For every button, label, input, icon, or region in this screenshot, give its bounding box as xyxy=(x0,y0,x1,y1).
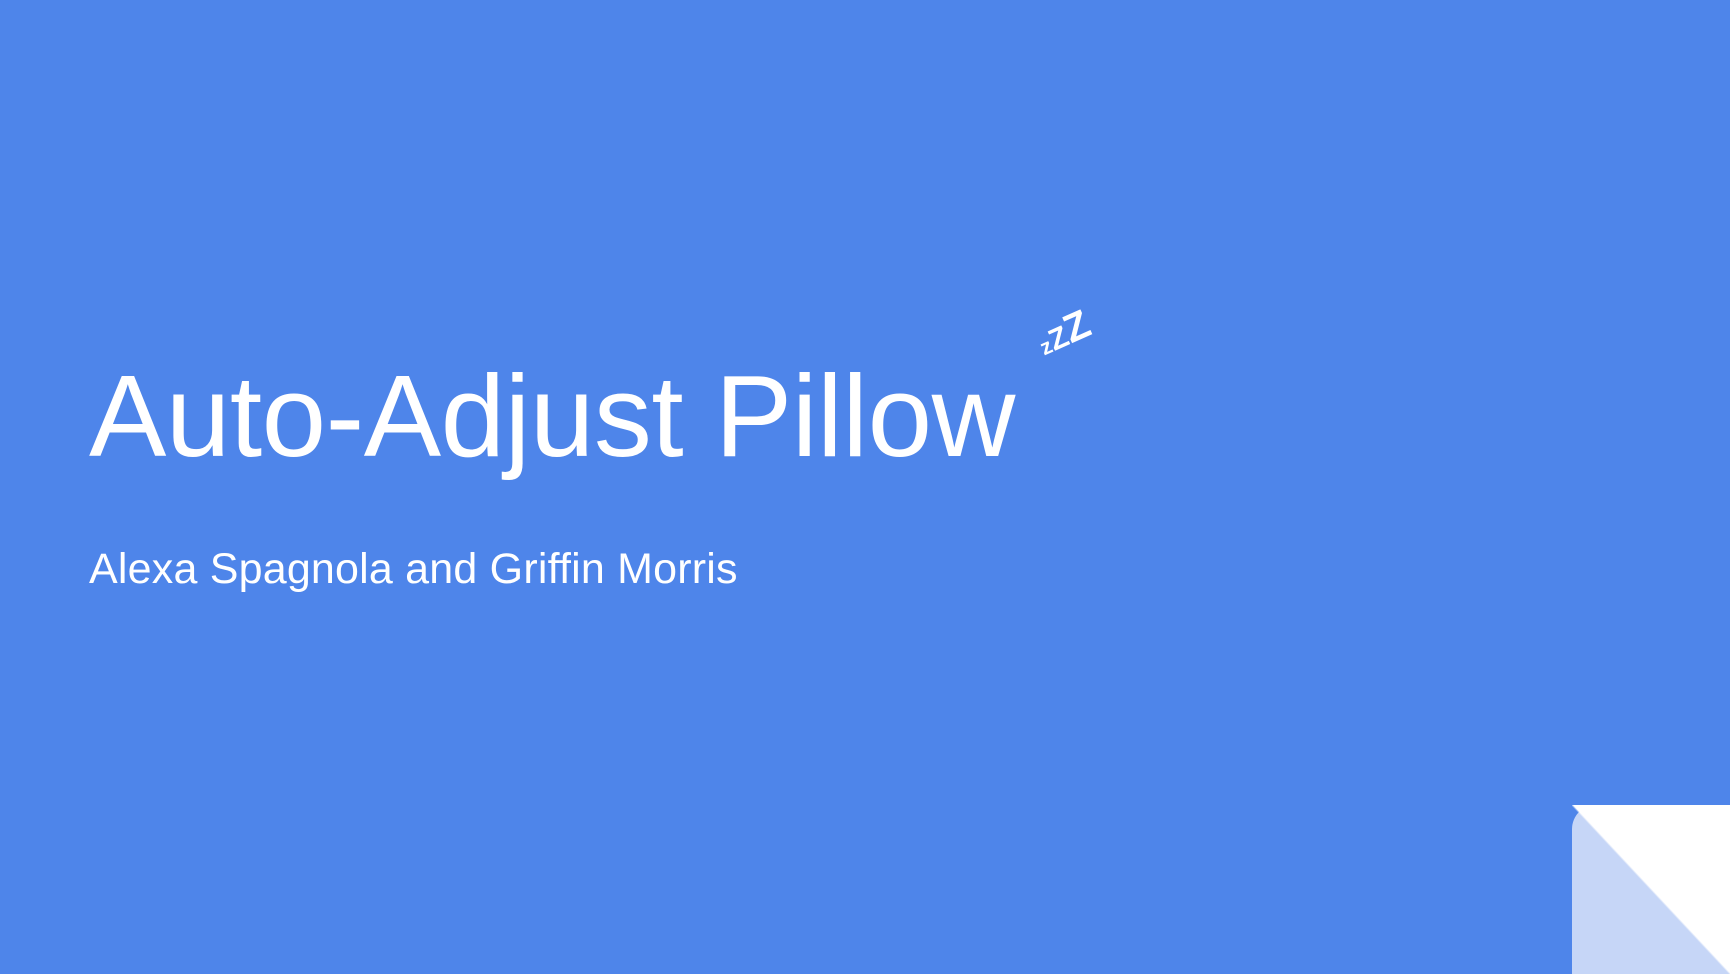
corner-fold-cut-triangle xyxy=(1572,805,1730,974)
presentation-slide: Auto-Adjust Pillow zZZ Alexa Spagnola an… xyxy=(0,0,1734,974)
page-title: Auto-Adjust Pillow xyxy=(89,352,1015,482)
slide-background xyxy=(0,0,1730,974)
slide-subtitle-authors: Alexa Spagnola and Griffin Morris xyxy=(89,544,738,596)
title-row: Auto-Adjust Pillow xyxy=(89,352,1289,482)
title-text-block: Auto-Adjust Pillow xyxy=(89,352,1289,482)
corner-fold-decoration xyxy=(1572,805,1730,974)
